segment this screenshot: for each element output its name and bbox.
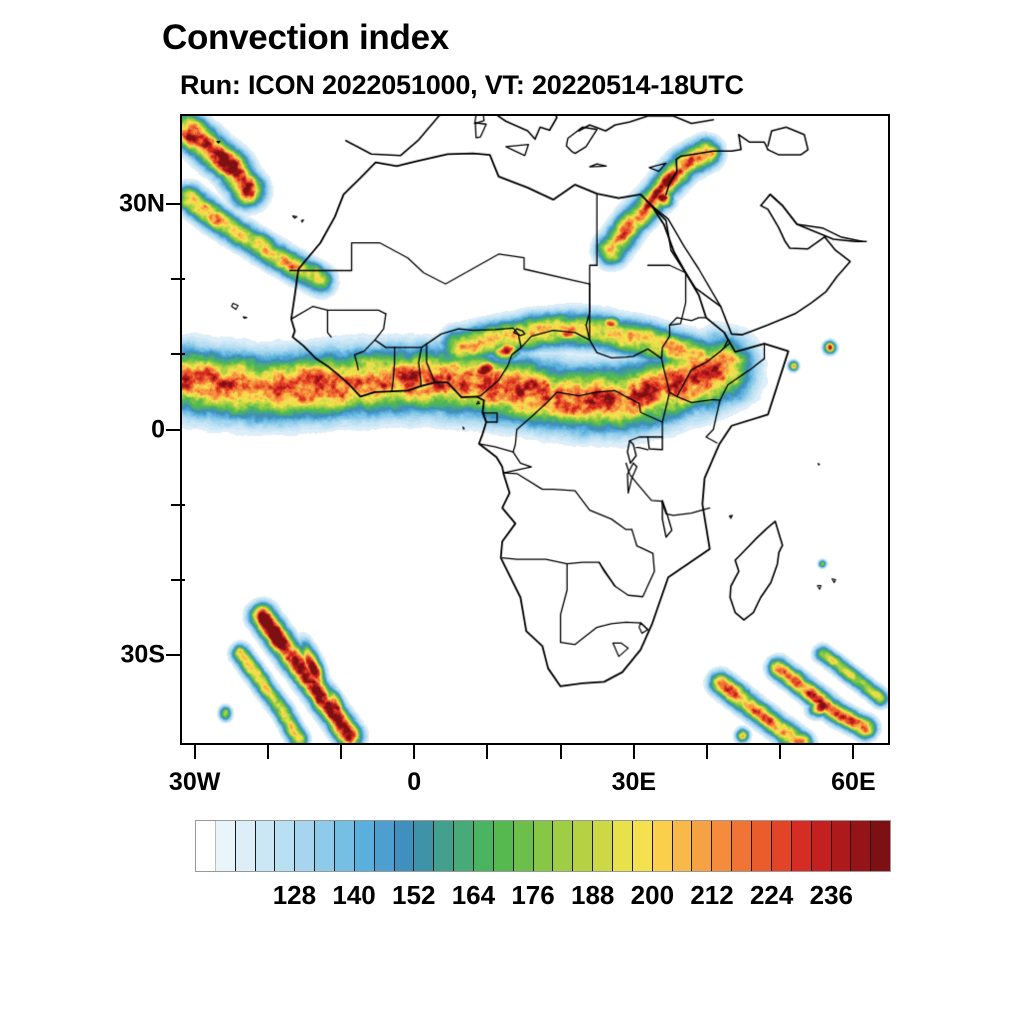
y-axis-label: 30N [95, 190, 165, 219]
x-minor-tick [486, 745, 488, 759]
x-axis-label: 30W [169, 768, 220, 797]
x-major-tick [413, 745, 415, 759]
convection-index-figure: Convection index Run: ICON 2022051000, V… [0, 0, 1024, 1024]
y-minor-tick [171, 278, 185, 280]
colorbar-cell [712, 821, 732, 871]
colorbar [195, 820, 891, 872]
colorbar-cell [534, 821, 554, 871]
y-minor-tick [171, 504, 185, 506]
x-minor-tick [706, 745, 708, 759]
y-major-tick [166, 654, 180, 656]
x-major-tick [633, 745, 635, 759]
colorbar-tick-label: 140 [332, 880, 375, 911]
colorbar-cell [772, 821, 792, 871]
colorbar-cell [593, 821, 613, 871]
colorbar-cell [196, 821, 216, 871]
colorbar-cell [732, 821, 752, 871]
y-minor-tick [171, 579, 185, 581]
y-axis-label: 0 [95, 415, 165, 444]
colorbar-tick-label: 212 [690, 880, 733, 911]
colorbar-tick-label: 236 [810, 880, 853, 911]
colorbar-cell [414, 821, 434, 871]
y-major-tick [166, 203, 180, 205]
colorbar-cell [692, 821, 712, 871]
x-axis-label: 60E [831, 768, 875, 797]
colorbar-cell [752, 821, 772, 871]
colorbar-cell [792, 821, 812, 871]
colorbar-cell [236, 821, 256, 871]
colorbar-cell [871, 821, 890, 871]
colorbar-tick-label: 176 [511, 880, 554, 911]
colorbar-cell [673, 821, 693, 871]
colorbar-cell [395, 821, 415, 871]
x-major-tick [852, 745, 854, 759]
colorbar-tick-label: 224 [750, 880, 793, 911]
colorbar-cell [474, 821, 494, 871]
run-valid-time-subtitle: Run: ICON 2022051000, VT: 20220514-18UTC [180, 70, 744, 101]
colorbar-cell [851, 821, 871, 871]
colorbar-cell [553, 821, 573, 871]
page-title: Convection index [162, 18, 449, 58]
colorbar-cell [494, 821, 514, 871]
colorbar-cell [216, 821, 236, 871]
colorbar-cell [613, 821, 633, 871]
y-axis-label: 30S [95, 640, 165, 669]
x-axis-label: 0 [407, 768, 421, 797]
x-axis-label: 30E [612, 768, 656, 797]
y-minor-tick [171, 353, 185, 355]
colorbar-cell [812, 821, 832, 871]
colorbar-cell [573, 821, 593, 871]
colorbar-cell [275, 821, 295, 871]
colorbar-tick-label: 188 [571, 880, 614, 911]
colorbar-cell [315, 821, 335, 871]
colorbar-tick-label: 164 [452, 880, 495, 911]
x-minor-tick [340, 745, 342, 759]
colorbar-cell [653, 821, 673, 871]
colorbar-cell [633, 821, 653, 871]
colorbar-cell [454, 821, 474, 871]
y-major-tick [166, 429, 180, 431]
convection-index-heatmap [182, 116, 888, 743]
map-plot-area [180, 114, 890, 745]
x-minor-tick [779, 745, 781, 759]
colorbar-cell [256, 821, 276, 871]
colorbar-cell [295, 821, 315, 871]
colorbar-tick-label: 128 [273, 880, 316, 911]
x-minor-tick [267, 745, 269, 759]
colorbar-cell [355, 821, 375, 871]
colorbar-cell [434, 821, 454, 871]
colorbar-cell [375, 821, 395, 871]
colorbar-tick-label: 152 [392, 880, 435, 911]
x-major-tick [194, 745, 196, 759]
colorbar-cell [514, 821, 534, 871]
colorbar-cell [832, 821, 852, 871]
colorbar-tick-label: 200 [631, 880, 674, 911]
colorbar-cell [335, 821, 355, 871]
colorbar-tick-labels: 128140152164176188200212224236 [195, 880, 891, 914]
x-minor-tick [560, 745, 562, 759]
